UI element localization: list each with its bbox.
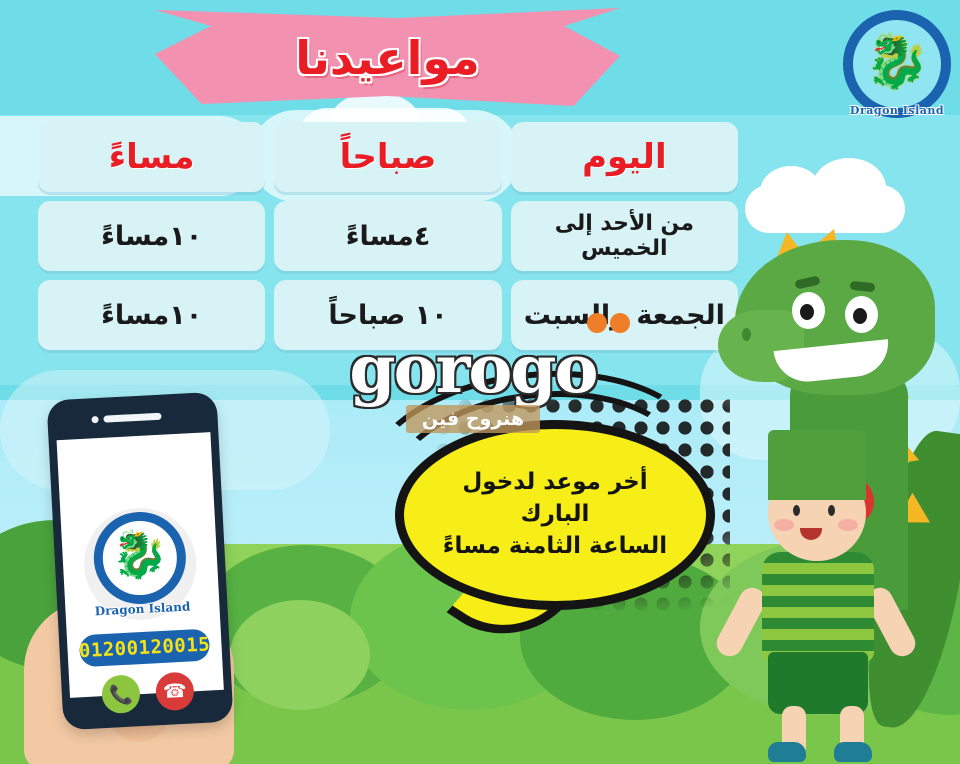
cell-morning-row1: ٤مساءً xyxy=(274,201,501,271)
table-row: من الأحد إلى الخميس ٤مساءً ١٠مساءً xyxy=(38,201,738,271)
value-morning-row1: ٤مساءً xyxy=(346,221,431,252)
watermark-dot-left xyxy=(587,313,607,333)
watermark-dot-right xyxy=(610,313,630,333)
cloud-right-puff-b xyxy=(812,158,886,218)
dragon-head-icon: 🐉 xyxy=(110,530,170,579)
value-evening-row2: ١٠مساءً xyxy=(101,300,202,331)
phone-speaker-icon xyxy=(103,413,161,423)
poster-canvas: مواعيدنا 🐉 Dragon Island اليوم صباحاً مس… xyxy=(0,0,960,764)
header-label-evening: مساءً xyxy=(109,137,195,177)
boy-cheek-left xyxy=(774,519,794,531)
boy-shoe-right xyxy=(834,742,872,762)
header-cell-morning: صباحاً xyxy=(274,122,501,192)
dragon-nostril xyxy=(742,328,751,341)
header-cell-day: اليوم xyxy=(511,122,738,192)
logo-brand-name: Dragon Island xyxy=(843,104,951,117)
phone-hangup-icon[interactable]: ☎ xyxy=(155,671,195,711)
header-cell-evening: مساءً xyxy=(38,122,265,192)
title-banner: مواعيدنا xyxy=(155,8,620,108)
cell-morning-row2: ١٠ صباحاً xyxy=(274,280,501,350)
value-morning-row2: ١٠ صباحاً xyxy=(328,300,447,331)
notice-line-2: الساعة الثامنة مساءً xyxy=(426,531,684,563)
dragon-pupil-left xyxy=(800,304,814,320)
phone-call-icon[interactable]: 📞 xyxy=(101,674,141,714)
value-day-row1: من الأحد إلى الخميس xyxy=(511,211,738,261)
boy-cheek-right xyxy=(838,519,858,531)
phone-camera-icon xyxy=(91,416,98,423)
schedule-table: اليوم صباحاً مساءً من الأحد إلى الخميس ٤… xyxy=(38,122,738,350)
brand-logo: 🐉 Dragon Island xyxy=(843,10,951,118)
header-label-day: اليوم xyxy=(582,137,667,177)
banner-title: مواعيدنا xyxy=(155,8,620,108)
cell-evening-row1: ١٠مساءً xyxy=(38,201,265,271)
phone-device: 🐉 Dragon Island 01200120015 📞 ☎ xyxy=(46,392,233,730)
phone-screen: 🐉 Dragon Island 01200120015 📞 ☎ xyxy=(57,432,224,698)
boy-shoe-left xyxy=(768,742,806,762)
boy-eye-right xyxy=(828,505,835,516)
value-evening-row1: ١٠مساءً xyxy=(101,221,202,252)
notice-line-1: أخر موعد لدخول البارك xyxy=(426,467,684,530)
dragon-pupil-right xyxy=(853,308,867,324)
dragon-head-icon: 🐉 xyxy=(865,36,930,88)
speech-bubble: أخر موعد لدخول البارك الساعة الثامنة مسا… xyxy=(395,420,715,610)
boy-shirt xyxy=(762,552,874,662)
phone-brand-logo: 🐉 Dragon Island xyxy=(81,505,199,623)
speech-bubble-text: أخر موعد لدخول البارك الساعة الثامنة مسا… xyxy=(404,467,706,562)
phone-number-display: 01200120015 xyxy=(79,629,210,668)
boy-shorts xyxy=(768,652,868,714)
table-row: الجمعة والسبت ١٠ صباحاً ١٠مساءً xyxy=(38,280,738,350)
cell-evening-row2: ١٠مساءً xyxy=(38,280,265,350)
cell-day-row1: من الأحد إلى الخميس xyxy=(511,201,738,271)
phone-logo-brand-name: Dragon Island xyxy=(86,599,199,619)
dragon-costume-hood xyxy=(768,430,866,500)
header-label-morning: صباحاً xyxy=(340,137,437,177)
boy-eye-left xyxy=(793,505,800,516)
table-header-row: اليوم صباحاً مساءً xyxy=(38,122,738,192)
